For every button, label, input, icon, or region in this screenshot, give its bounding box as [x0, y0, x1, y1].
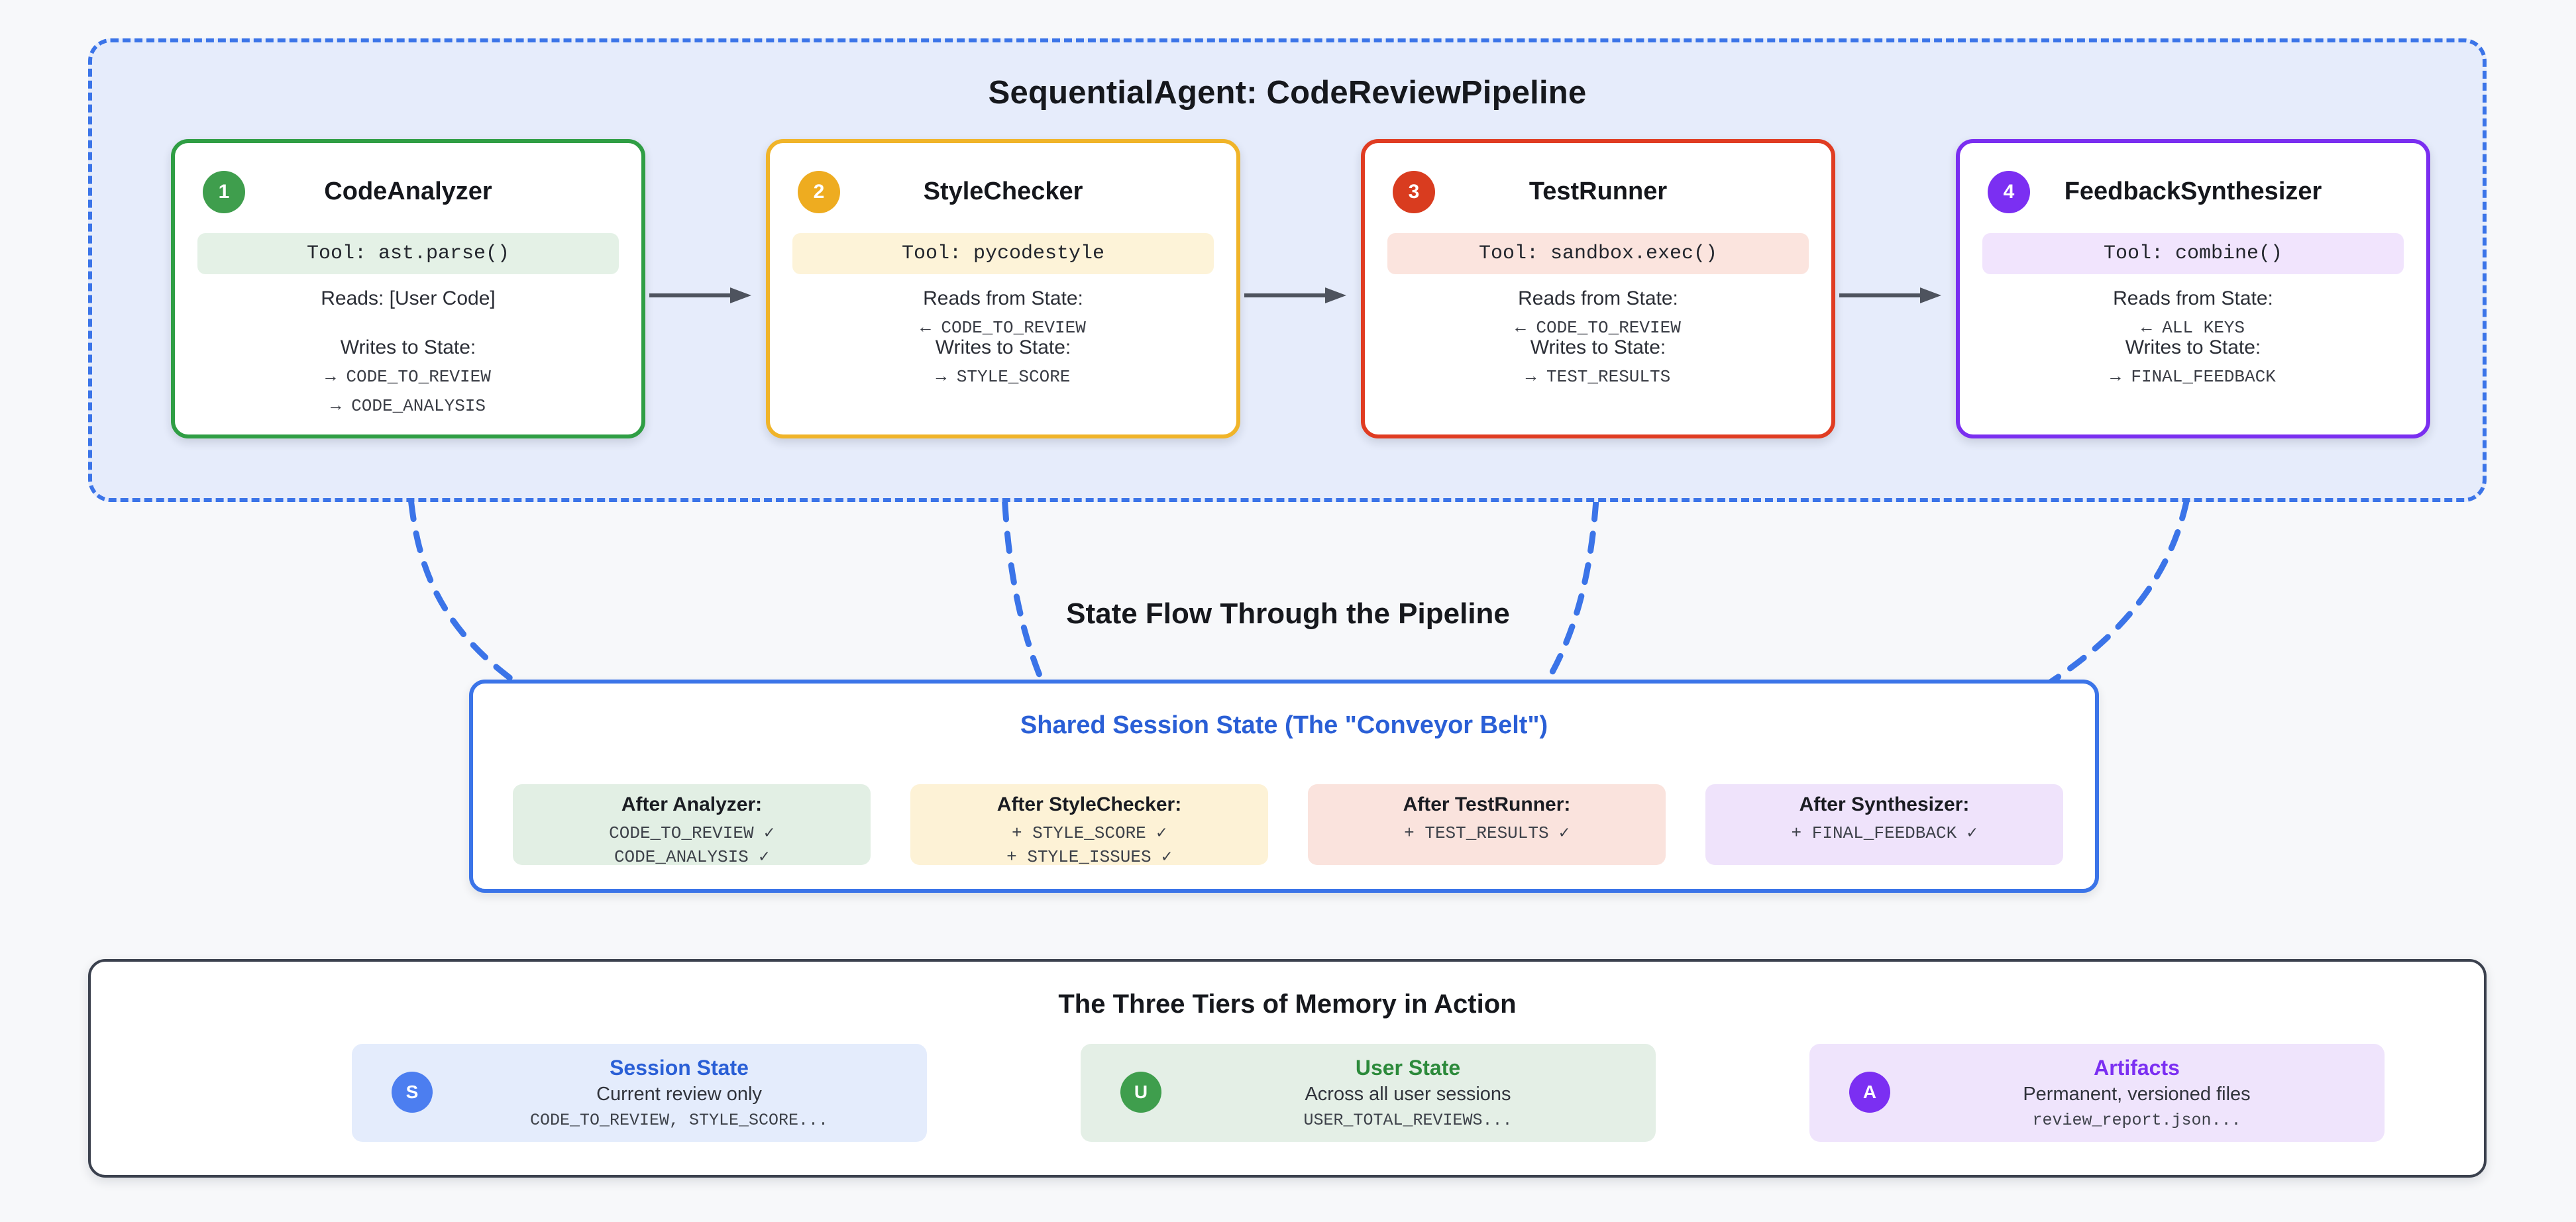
arrow-head-icon	[1325, 287, 1346, 303]
tier-card-user-state[interactable]: U User State Across all user sessions US…	[1081, 1044, 1656, 1142]
tier-description: Current review only	[431, 1084, 927, 1105]
agent-name-3: TestRunner	[1365, 178, 1831, 206]
state-box-key: + FINAL_FEEDBACK ✓	[1705, 823, 2063, 843]
reads-label-2: Reads from State:	[770, 287, 1236, 310]
writes-item-1b: → CODE_ANALYSIS	[175, 396, 641, 416]
state-box-key: + STYLE_SCORE ✓	[910, 823, 1268, 843]
arrow-head-icon	[1920, 287, 1941, 303]
shared-session-state-title: Shared Session State (The "Conveyor Belt…	[473, 711, 2095, 740]
state-box-title: After Synthesizer:	[1705, 793, 2063, 816]
tier-badge-icon: S	[392, 1072, 433, 1113]
arrow-head-icon	[730, 287, 751, 303]
arrow-shaft	[649, 293, 734, 297]
tool-chip-1: Tool: ast.parse()	[197, 233, 619, 274]
state-box-after-testrunner: After TestRunner: + TEST_RESULTS ✓	[1308, 784, 1666, 865]
tier-card-artifacts[interactable]: A Artifacts Permanent, versioned files r…	[1809, 1044, 2385, 1142]
reads-label-3: Reads from State:	[1365, 287, 1831, 310]
tool-chip-3: Tool: sandbox.exec()	[1387, 233, 1809, 274]
writes-item-1a: → CODE_TO_REVIEW	[175, 367, 641, 387]
memory-tiers-panel: The Three Tiers of Memory in Action S Se…	[88, 959, 2487, 1178]
reads-item-2: ← CODE_TO_REVIEW	[770, 318, 1236, 338]
reads-item-4: ← ALL KEYS	[1960, 318, 2426, 338]
memory-tiers-title: The Three Tiers of Memory in Action	[91, 990, 2484, 1019]
state-box-after-synthesizer: After Synthesizer: + FINAL_FEEDBACK ✓	[1705, 784, 2063, 865]
agent-card-testrunner[interactable]: 3 TestRunner Tool: sandbox.exec() Reads …	[1361, 139, 1835, 438]
tier-keys: CODE_TO_REVIEW, STYLE_SCORE...	[431, 1111, 927, 1130]
tier-badge-icon: U	[1120, 1072, 1161, 1113]
state-box-key: + TEST_RESULTS ✓	[1308, 823, 1666, 843]
writes-label-2: Writes to State:	[770, 336, 1236, 359]
state-box-title: After TestRunner:	[1308, 793, 1666, 816]
flow-arrow-2-to-3	[1244, 287, 1361, 303]
flow-arrow-1-to-2	[649, 287, 766, 303]
tier-description: Permanent, versioned files	[1889, 1084, 2385, 1105]
flow-arrow-3-to-4	[1839, 287, 1956, 303]
state-box-key: CODE_ANALYSIS ✓	[513, 846, 871, 867]
tier-card-session-state[interactable]: S Session State Current review only CODE…	[352, 1044, 927, 1142]
arrow-shaft	[1839, 293, 1924, 297]
tier-title: Session State	[431, 1056, 927, 1080]
agent-name-2: StyleChecker	[770, 178, 1236, 206]
writes-item-4: → FINAL_FEEDBACK	[1960, 367, 2426, 387]
state-box-title: After StyleChecker:	[910, 793, 1268, 816]
tool-chip-2: Tool: pycodestyle	[792, 233, 1214, 274]
state-box-key: + STYLE_ISSUES ✓	[910, 846, 1268, 867]
tier-title: Artifacts	[1889, 1056, 2385, 1080]
writes-label-4: Writes to State:	[1960, 336, 2426, 359]
agent-card-stylechecker[interactable]: 2 StyleChecker Tool: pycodestyle Reads f…	[766, 139, 1240, 438]
writes-label-3: Writes to State:	[1365, 336, 1831, 359]
diagram-canvas: SequentialAgent: CodeReviewPipeline 1 Co…	[0, 0, 2576, 1222]
state-flow-heading: State Flow Through the Pipeline	[0, 597, 2576, 631]
tool-chip-4: Tool: combine()	[1982, 233, 2404, 274]
tier-title: User State	[1160, 1056, 1656, 1080]
state-box-key: CODE_TO_REVIEW ✓	[513, 823, 871, 843]
pipeline-title: SequentialAgent: CodeReviewPipeline	[92, 74, 2483, 111]
writes-item-3: → TEST_RESULTS	[1365, 367, 1831, 387]
tier-description: Across all user sessions	[1160, 1084, 1656, 1105]
writes-item-2: → STYLE_SCORE	[770, 367, 1236, 387]
state-box-after-analyzer: After Analyzer: CODE_TO_REVIEW ✓ CODE_AN…	[513, 784, 871, 865]
agent-card-feedbacksynthesizer[interactable]: 4 FeedbackSynthesizer Tool: combine() Re…	[1956, 139, 2430, 438]
reads-item-3: ← CODE_TO_REVIEW	[1365, 318, 1831, 338]
reads-label-1: Reads: [User Code]	[175, 287, 641, 310]
state-box-title: After Analyzer:	[513, 793, 871, 816]
tier-badge-icon: A	[1849, 1072, 1890, 1113]
tier-keys: review_report.json...	[1889, 1111, 2385, 1130]
agent-name-4: FeedbackSynthesizer	[1960, 178, 2426, 206]
state-box-after-stylechecker: After StyleChecker: + STYLE_SCORE ✓ + ST…	[910, 784, 1268, 865]
reads-label-4: Reads from State:	[1960, 287, 2426, 310]
writes-label-1: Writes to State:	[175, 336, 641, 359]
agent-card-codeanalyzer[interactable]: 1 CodeAnalyzer Tool: ast.parse() Reads: …	[171, 139, 645, 438]
agent-name-1: CodeAnalyzer	[175, 178, 641, 206]
tier-keys: USER_TOTAL_REVIEWS...	[1160, 1111, 1656, 1130]
arrow-shaft	[1244, 293, 1329, 297]
shared-session-state-panel: Shared Session State (The "Conveyor Belt…	[469, 680, 2099, 893]
